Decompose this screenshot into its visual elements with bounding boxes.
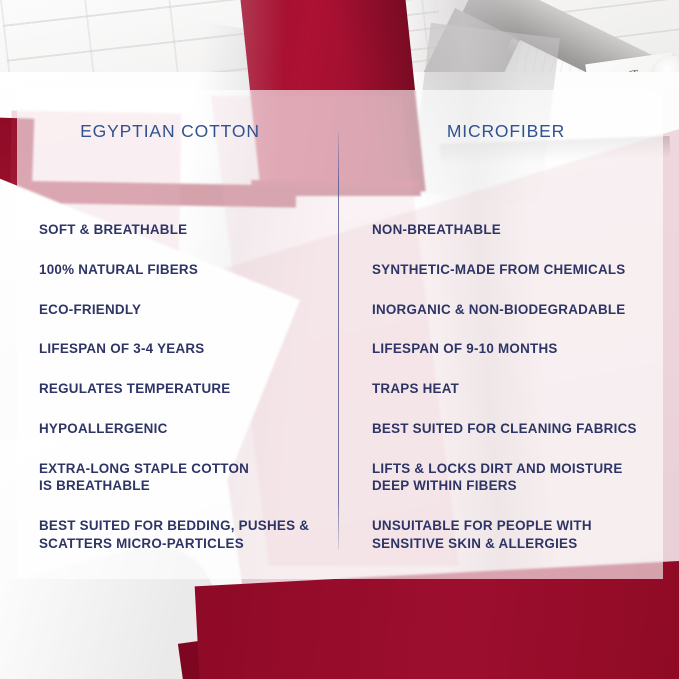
list-item: SYNTHETIC-MADE FROM CHEMICALS bbox=[372, 261, 662, 278]
list-item: HYPOALLERGENIC bbox=[39, 420, 339, 437]
column-egyptian-cotton: EGYPTIAN COTTON SOFT & BREATHABLE 100% N… bbox=[17, 90, 339, 579]
list-item: LIFTS & LOCKS DIRT AND MOISTURE DEEP WIT… bbox=[372, 460, 662, 495]
list-item: ECO-FRIENDLY bbox=[39, 301, 339, 318]
list-item: INORGANIC & NON-BIODEGRADABLE bbox=[372, 301, 662, 318]
column-title-microfiber: MICROFIBER bbox=[339, 121, 663, 142]
comparison-table: EGYPTIAN COTTON SOFT & BREATHABLE 100% N… bbox=[17, 90, 663, 579]
column-title-egyptian-cotton: EGYPTIAN COTTON bbox=[17, 121, 339, 142]
list-item: BEST SUITED FOR CLEANING FABRICS bbox=[372, 420, 662, 437]
list-item: NON-BREATHABLE bbox=[372, 221, 662, 238]
infographic-canvas: Times EGYPTIAN COTTON SOFT & BREATHABLE … bbox=[0, 0, 679, 679]
list-item: LIFESPAN OF 9-10 MONTHS bbox=[372, 340, 662, 357]
list-item: BEST SUITED FOR BEDDING, PUSHES & SCATTE… bbox=[39, 517, 339, 552]
feature-list-microfiber: NON-BREATHABLE SYNTHETIC-MADE FROM CHEMI… bbox=[372, 221, 662, 552]
feature-list-egyptian-cotton: SOFT & BREATHABLE 100% NATURAL FIBERS EC… bbox=[39, 221, 339, 552]
column-microfiber: MICROFIBER NON-BREATHABLE SYNTHETIC-MADE… bbox=[339, 90, 663, 579]
list-item: EXTRA-LONG STAPLE COTTON IS BREATHABLE bbox=[39, 460, 339, 495]
list-item: UNSUITABLE FOR PEOPLE WITH SENSITIVE SKI… bbox=[372, 517, 662, 552]
list-item: SOFT & BREATHABLE bbox=[39, 221, 339, 238]
list-item: REGULATES TEMPERATURE bbox=[39, 380, 339, 397]
list-item: LIFESPAN OF 3-4 YEARS bbox=[39, 340, 339, 357]
list-item: 100% NATURAL FIBERS bbox=[39, 261, 339, 278]
list-item: TRAPS HEAT bbox=[372, 380, 662, 397]
